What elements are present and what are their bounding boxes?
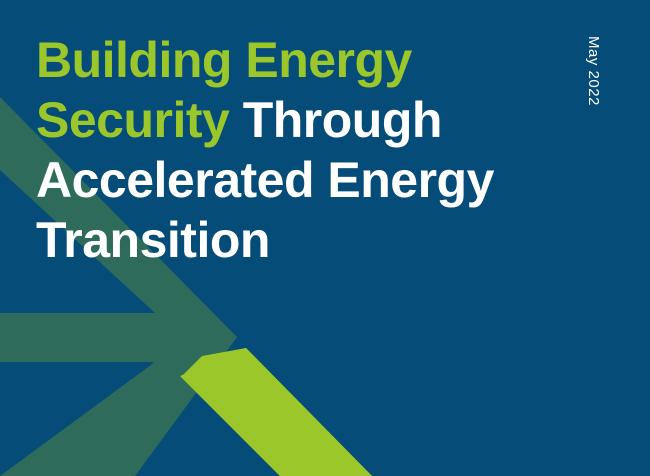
title-segment: Transition bbox=[36, 212, 270, 268]
title-line-2: Security Through bbox=[36, 90, 556, 150]
title-line-1: Building Energy bbox=[36, 30, 556, 90]
date-stamp: May 2022 bbox=[585, 34, 602, 106]
title-line-4: Transition bbox=[36, 210, 556, 270]
title-segment: Through bbox=[243, 92, 442, 148]
page-title: Building Energy Security Through Acceler… bbox=[36, 30, 556, 270]
title-segment: Security bbox=[36, 92, 243, 148]
title-segment: Building Energy bbox=[36, 32, 412, 88]
report-cover-page: Building Energy Security Through Acceler… bbox=[0, 0, 650, 476]
title-line-3: Accelerated Energy bbox=[36, 150, 556, 210]
title-segment: Accelerated Energy bbox=[36, 152, 494, 208]
